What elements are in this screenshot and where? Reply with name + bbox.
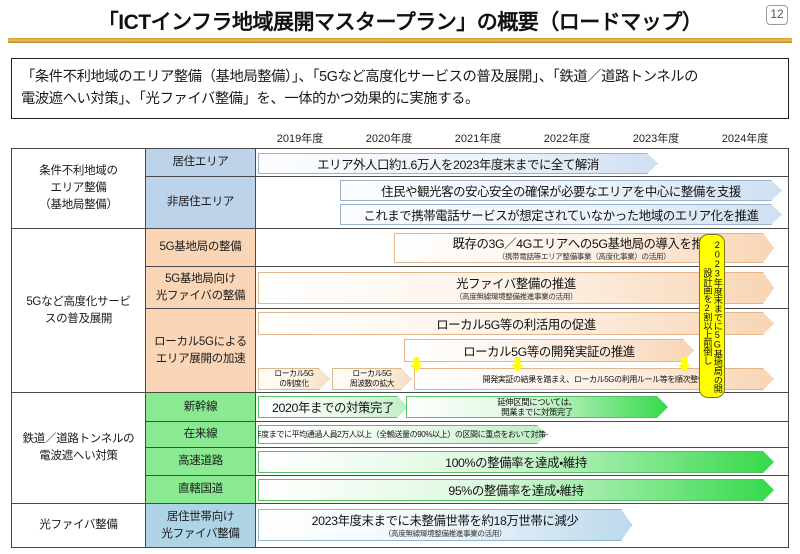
subcategory-local-5g-line2: エリア展開の加速	[146, 351, 255, 367]
bar-shinkansen-extension-sections[interactable]: 延伸区間については、 開業までに対策完了	[406, 396, 668, 418]
bar-extension-line2: 開業までに対策完了	[501, 407, 573, 417]
table-row-shinkansen: 鉄道／道路トンネルの 電波遮へい対策 新幹線 2020年までの対策完了 延伸区間…	[12, 393, 789, 422]
page-title: 「ICTインフラ地域展開マスタープラン」の概要（ロードマップ）	[0, 0, 800, 36]
subcategory-household-fiber-line2: 光ファイバ整備	[146, 526, 255, 542]
subcategory-5g-fiber-line2: 光ファイバの整備	[146, 288, 255, 304]
year-label-2024: 2024年度	[722, 130, 768, 146]
bar-caption-unserved-households: （高度無線環境整備推進事業の活用）	[384, 528, 506, 539]
category-5g-services: 5Gなど高度化サービ スの普及展開	[12, 229, 146, 393]
timeline-year-axis: 2019年度 2020年度 2021年度 2022年度 2023年度 2024年…	[255, 130, 789, 148]
track-household-fiber: 2023年度末までに未整備世帯を約18万世帯に減少 （高度無線環境整備推進事業の…	[256, 504, 789, 548]
subcategory-household-fiber-line1: 居住世帯向け	[146, 509, 255, 525]
category-5g-line1: 5Gなど高度化サービ	[12, 294, 145, 311]
bar-expressway-100-percent[interactable]: 100%の整備率を達成・維持	[258, 451, 774, 473]
bar-label-fiber-promotion: 光ファイバ整備の推進	[456, 274, 576, 292]
bar-national-highway-95-percent[interactable]: 95%の整備率を達成・維持	[258, 479, 774, 501]
bar-reduce-unserved-households[interactable]: 2023年度末までに未整備世帯を約18万世帯に減少 （高度無線環境整備推進事業の…	[258, 509, 632, 541]
yellow-callout-5g-acceleration[interactable]: 2023年度末までに5G基地局の開設計画を2割以上前倒し	[699, 234, 725, 398]
year-label-2021: 2021年度	[455, 130, 501, 146]
subcategory-non-residential-area: 非居住エリア	[146, 177, 256, 229]
bar-promote-local-5g-utilization[interactable]: ローカル5G等の利活用の促進	[258, 312, 774, 335]
category-area-development: 条件不利地域の エリア整備 （基地局整備）	[12, 149, 146, 229]
chip1-line2: の制度化	[279, 379, 309, 389]
subcategory-conventional-line: 在来線	[146, 422, 256, 448]
chip2-line2: 周波数の拡大	[350, 379, 394, 389]
track-residential-area: エリア外人口約1.6万人を2023年度末までに全て解消	[256, 149, 789, 177]
track-non-residential-area: 住民や観光客の安心安全の確保が必要なエリアを中心に整備を支援 これまで携帯電話サ…	[256, 177, 789, 229]
bar-eliminate-uncovered-population[interactable]: エリア外人口約1.6万人を2023年度末までに全て解消	[258, 153, 658, 174]
bar-conventional-line-measures[interactable]: 2022年度までに平均通過人員2万人以上（全輸送量の90%以上）の区間に重点をお…	[258, 425, 548, 444]
category-area-line1: 条件不利地域の	[12, 163, 145, 180]
category-area-line3: （基地局整備）	[12, 197, 145, 214]
year-label-2022: 2022年度	[544, 130, 590, 146]
bar-local-5g-rnd-demonstration[interactable]: ローカル5G等の開発実証の推進	[404, 339, 694, 362]
track-conventional-line: 2022年度までに平均通過人員2万人以上（全輸送量の90%以上）の区間に重点をお…	[256, 422, 789, 448]
bar-caption-fiber-promotion: （高度無線環境整備推進事業の活用）	[455, 291, 577, 302]
bar-support-safety-areas[interactable]: 住民や観光客の安心安全の確保が必要なエリアを中心に整備を支援	[340, 180, 782, 201]
subcategory-residential-area: 居住エリア	[146, 149, 256, 177]
subcategory-local-5g-line1: ローカル5Gによる	[146, 334, 255, 350]
roadmap-table: 条件不利地域の エリア整備 （基地局整備） 居住エリア エリア外人口約1.6万人…	[11, 148, 789, 548]
bar-label-5g-introduction: 既存の3G／4Gエリアへの5G基地局の導入を推進	[452, 234, 715, 252]
subcategory-expressway: 高速道路	[146, 448, 256, 476]
year-label-2019: 2019年度	[277, 130, 323, 146]
track-national-highway: 95%の整備率を達成・維持	[256, 476, 789, 504]
roadmap-chart: 2019年度 2020年度 2021年度 2022年度 2023年度 2024年…	[11, 130, 789, 548]
chip-local-5g-spectrum-expansion[interactable]: ローカル5G 周波数の拡大	[332, 368, 412, 390]
subcategory-local-5g: ローカル5Gによる エリア展開の加速	[146, 309, 256, 393]
chip1-line1: ローカル5G	[274, 369, 313, 379]
bar-caption-5g-introduction: （携帯電話等エリア整備事業（高度化事業）の活用）	[498, 251, 671, 262]
chip2-line1: ローカル5G	[352, 369, 391, 379]
category-fiber-development: 光ファイバ整備	[12, 504, 146, 548]
category-area-line2: エリア整備	[12, 180, 145, 197]
bar-label-unserved-households: 2023年度末までに未整備世帯を約18万世帯に減少	[312, 511, 579, 529]
gold-accent-divider	[8, 38, 792, 43]
bar-promote-fiber-development[interactable]: 光ファイバ整備の推進 （高度無線環境整備推進事業の活用）	[258, 272, 774, 304]
category-railway-tunnel: 鉄道／道路トンネルの 電波遮へい対策	[12, 393, 146, 504]
category-railway-line1: 鉄道／道路トンネルの	[12, 431, 145, 448]
subcategory-5g-fiber: 5G基地局向け 光ファイバの整備	[146, 267, 256, 309]
category-railway-line2: 電波遮へい対策	[12, 448, 145, 465]
summary-line-1: 「条件不利地域のエリア整備（基地局整備）」、「5Gなど高度化サービスの普及展開」…	[21, 66, 779, 88]
subcategory-5g-base-station: 5G基地局の整備	[146, 229, 256, 267]
table-row-residential-area: 条件不利地域の エリア整備 （基地局整備） 居住エリア エリア外人口約1.6万人…	[12, 149, 789, 177]
category-5g-line2: スの普及展開	[12, 311, 145, 328]
summary-box: 「条件不利地域のエリア整備（基地局整備）」、「5Gなど高度化サービスの普及展開」…	[11, 58, 789, 119]
table-row-5g-base-stations: 5Gなど高度化サービ スの普及展開 5G基地局の整備 既存の3G／4Gエリアへの…	[12, 229, 789, 267]
subcategory-national-highway: 直轄国道	[146, 476, 256, 504]
page-number-badge: 12	[766, 5, 788, 25]
year-label-2023: 2023年度	[633, 130, 679, 146]
subcategory-household-fiber: 居住世帯向け 光ファイバ整備	[146, 504, 256, 548]
subcategory-5g-fiber-line1: 5G基地局向け	[146, 271, 255, 287]
chip-local-5g-institutionalization[interactable]: ローカル5G の制度化	[258, 368, 330, 390]
year-label-2020: 2020年度	[366, 130, 412, 146]
table-row-fiber-households: 光ファイバ整備 居住世帯向け 光ファイバ整備 2023年度末までに未整備世帯を約…	[12, 504, 789, 548]
bar-promote-uncovered-regions[interactable]: これまで携帯電話サービスが想定されていなかった地域のエリア化を推進	[340, 204, 782, 225]
subcategory-shinkansen: 新幹線	[146, 393, 256, 422]
bar-shinkansen-completed-by-2020[interactable]: 2020年までの対策完了	[258, 396, 408, 418]
bar-extension-line1: 延伸区間については、	[497, 397, 576, 407]
track-expressway: 100%の整備率を達成・維持	[256, 448, 789, 476]
summary-line-2: 電波遮へい対策」、「光ファイバ整備」を、一体的かつ効果的に実施する。	[21, 88, 779, 110]
